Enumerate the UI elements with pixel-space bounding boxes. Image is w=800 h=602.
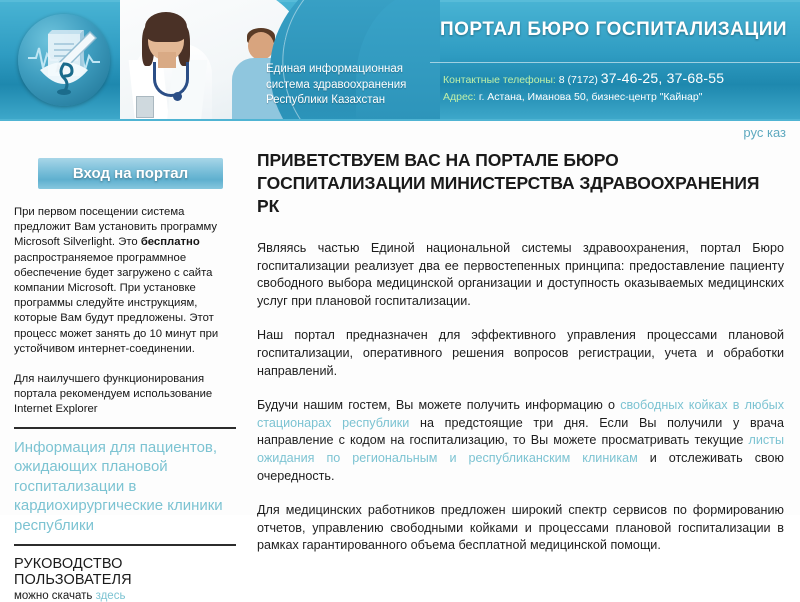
cardiac-patients-info-link[interactable]: Информация для пациентов, ожидающих план… bbox=[14, 438, 236, 536]
contacts-address-label: Адрес: bbox=[443, 91, 476, 103]
login-portal-button[interactable]: Вход на портал bbox=[38, 158, 223, 189]
banner-subtitle: Единая информационная система здравоохра… bbox=[266, 62, 441, 109]
doctor-clipboard bbox=[136, 96, 154, 118]
user-manual-download-link[interactable]: здесь bbox=[96, 590, 126, 602]
lang-link-ru[interactable]: рус bbox=[743, 125, 763, 140]
banner-subtitle-line3: Республики Казахстан bbox=[266, 93, 441, 109]
portal-title: ПОРТАЛ БЮРО ГОСПИТАЛИЗАЦИИ bbox=[440, 19, 787, 41]
guest-info-text-a: Будучи нашим гостем, Вы можете получить … bbox=[257, 398, 620, 412]
user-manual-subtitle: можно скачать здесь bbox=[14, 590, 236, 602]
lang-link-kz[interactable]: каз bbox=[767, 125, 786, 140]
contacts-phone-numbers: 37-46-25, 37-68-55 bbox=[601, 70, 724, 86]
user-manual-download-text: можно скачать bbox=[14, 590, 96, 602]
sidebar-divider-top bbox=[14, 427, 236, 429]
banner-subtitle-line1: Единая информационная bbox=[266, 62, 441, 78]
sidebar-divider-bottom bbox=[14, 544, 236, 546]
sidebar: Вход на портал При первом посещении сист… bbox=[8, 149, 240, 602]
silverlight-notice: При первом посещении система предложит В… bbox=[14, 205, 236, 357]
user-manual-block: РУКОВОДСТВО ПОЛЬЗОВАТЕЛЯ можно скачать з… bbox=[14, 556, 236, 602]
doctor-hair-top bbox=[145, 12, 187, 42]
header-contacts: Контактные телефоны: 8 (7172) 37-46-25, … bbox=[443, 70, 724, 106]
contacts-address-row: Адрес: г. Астана, Иманова 50, бизнес-цен… bbox=[443, 89, 724, 106]
stethoscope-bell bbox=[173, 92, 182, 101]
site-header-banner: Единая информационная система здравоохра… bbox=[0, 0, 800, 121]
paragraph-medical-workers: Для медицинских работников предложен шир… bbox=[257, 502, 784, 555]
banner-divider-line bbox=[430, 62, 800, 63]
browser-recommendation: Для наилучшего функционирования портала … bbox=[14, 372, 236, 418]
paragraph-guest-info: Будучи нашим гостем, Вы можете получить … bbox=[257, 397, 784, 485]
banner-subtitle-line2: система здравоохранения bbox=[266, 78, 441, 94]
silverlight-notice-part2: распространяемое программное обеспечение… bbox=[14, 252, 218, 355]
paragraph-principles: Являясь частью Единой национальной систе… bbox=[257, 240, 784, 310]
contacts-phones-row: Контактные телефоны: 8 (7172) 37-46-25, … bbox=[443, 70, 724, 89]
medical-document-pen-emblem-icon bbox=[18, 14, 110, 106]
contacts-address-value: г. Астана, Иманова 50, бизнес-центр "Кай… bbox=[479, 91, 703, 103]
main-content: ПРИВЕТСТВУЕМ ВАС НА ПОРТАЛЕ БЮРО ГОСПИТА… bbox=[257, 149, 784, 555]
site-logo[interactable] bbox=[18, 14, 110, 106]
user-manual-title: РУКОВОДСТВО ПОЛЬЗОВАТЕЛЯ bbox=[14, 556, 236, 588]
paragraph-purpose: Наш портал предназначен для эффективного… bbox=[257, 327, 784, 380]
language-switcher-bar: рус каз bbox=[0, 121, 800, 149]
contacts-phone-prefix: 8 (7172) bbox=[559, 74, 598, 86]
stethoscope-icon bbox=[153, 62, 189, 97]
contacts-phones-label: Контактные телефоны: bbox=[443, 74, 556, 86]
language-switcher: рус каз bbox=[743, 125, 786, 140]
page-title: ПРИВЕТСТВУЕМ ВАС НА ПОРТАЛЕ БЮРО ГОСПИТА… bbox=[257, 149, 784, 218]
silverlight-notice-free-word: бесплатно bbox=[141, 236, 200, 248]
